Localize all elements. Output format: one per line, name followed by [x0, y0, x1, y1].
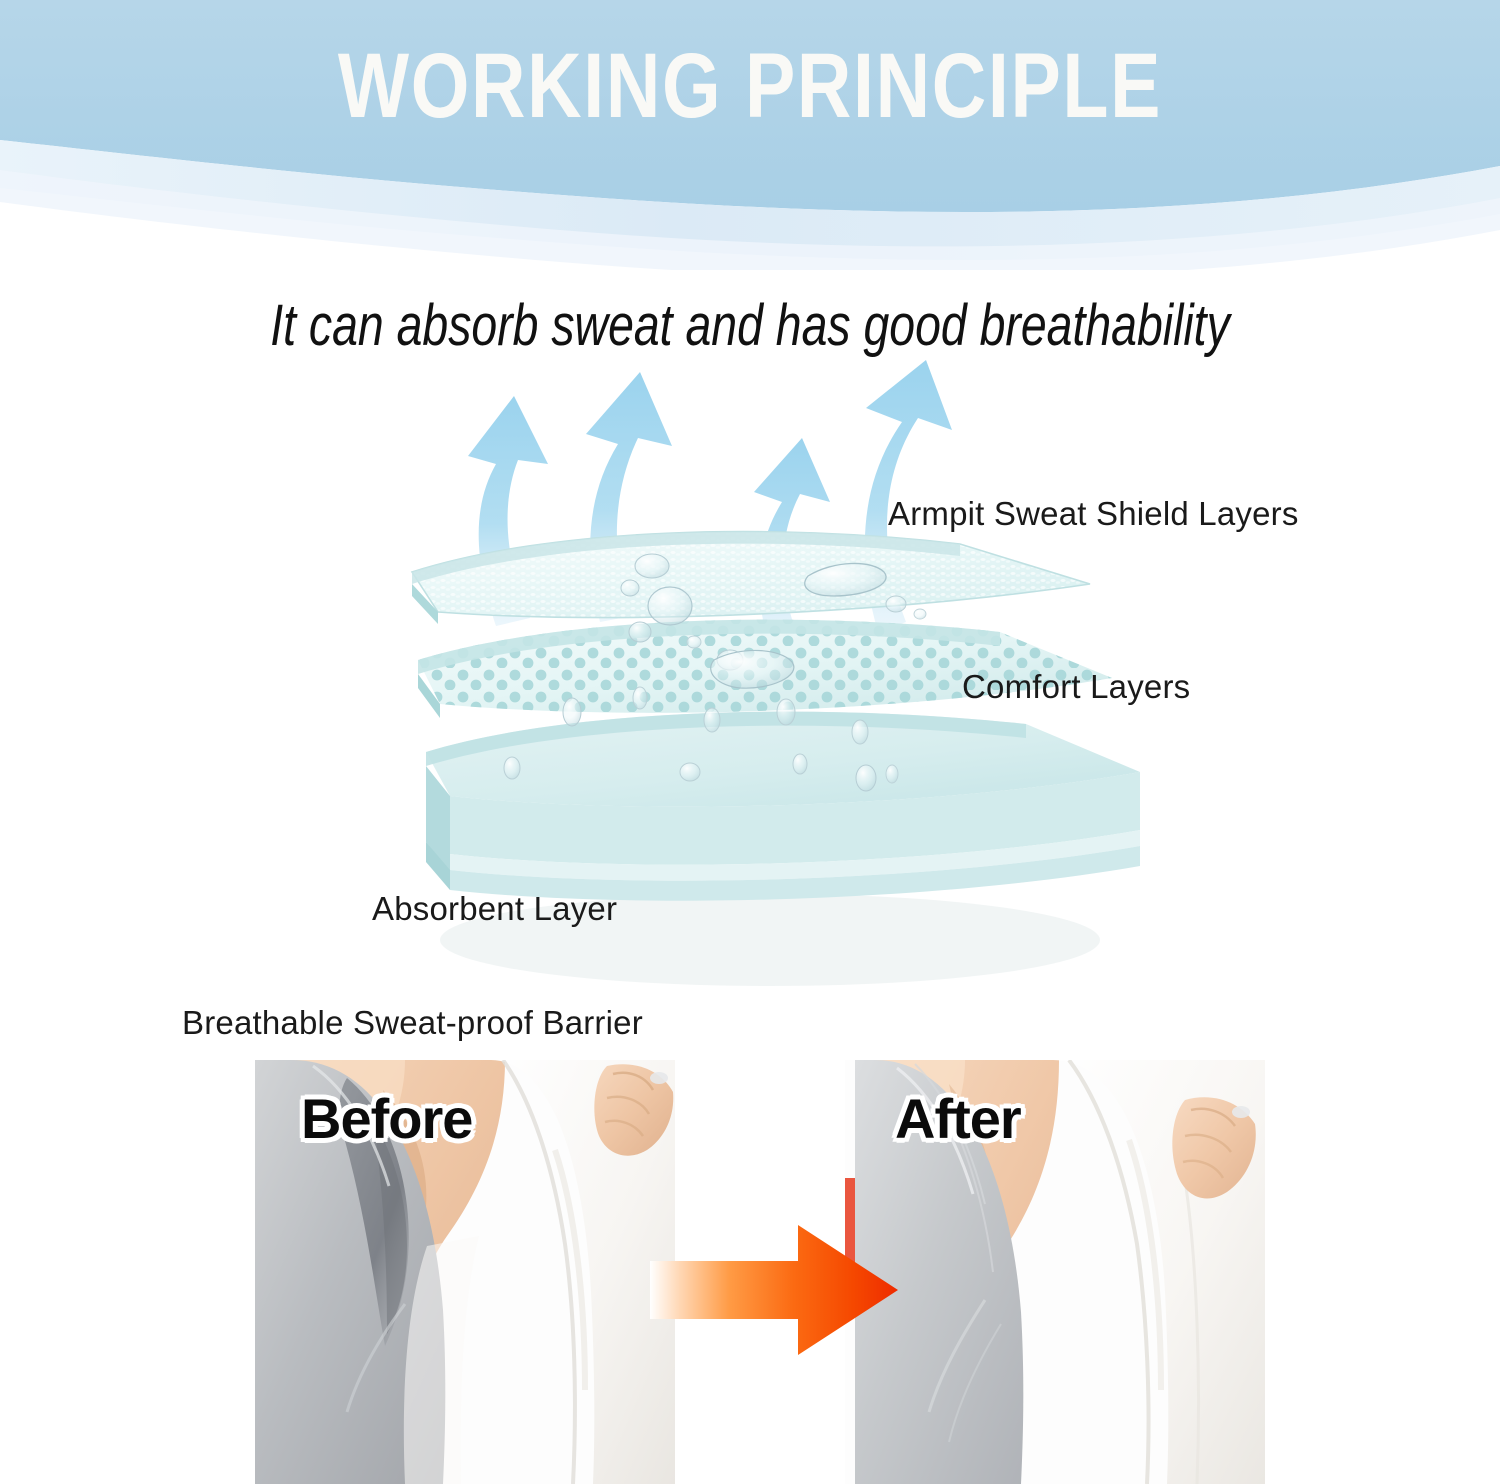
- layer-label-breathable-barrier: Breathable Sweat-proof Barrier: [182, 1004, 643, 1042]
- transition-arrow-icon: [650, 1215, 900, 1365]
- subtitle-text: It can absorb sweat and has good breatha…: [150, 292, 1350, 359]
- layer-absorbent-barrier: [426, 712, 1140, 901]
- after-photo: After: [845, 1060, 1265, 1484]
- layer-label-comfort: Comfort Layers: [962, 668, 1190, 706]
- header-banner: WORKING PRINCIPLE: [0, 0, 1500, 270]
- transition-arrow: [650, 1215, 900, 1365]
- page-title: WORKING PRINCIPLE: [135, 40, 1365, 132]
- before-label: Before: [301, 1086, 472, 1151]
- infographic-page: WORKING PRINCIPLE It can absorb sweat an…: [0, 0, 1500, 1484]
- after-label: After: [895, 1086, 1021, 1151]
- layer-label-absorbent: Absorbent Layer: [372, 890, 617, 928]
- before-photo: Before: [255, 1060, 675, 1484]
- layer-label-armpit-sweat-shield: Armpit Sweat Shield Layers: [888, 495, 1299, 533]
